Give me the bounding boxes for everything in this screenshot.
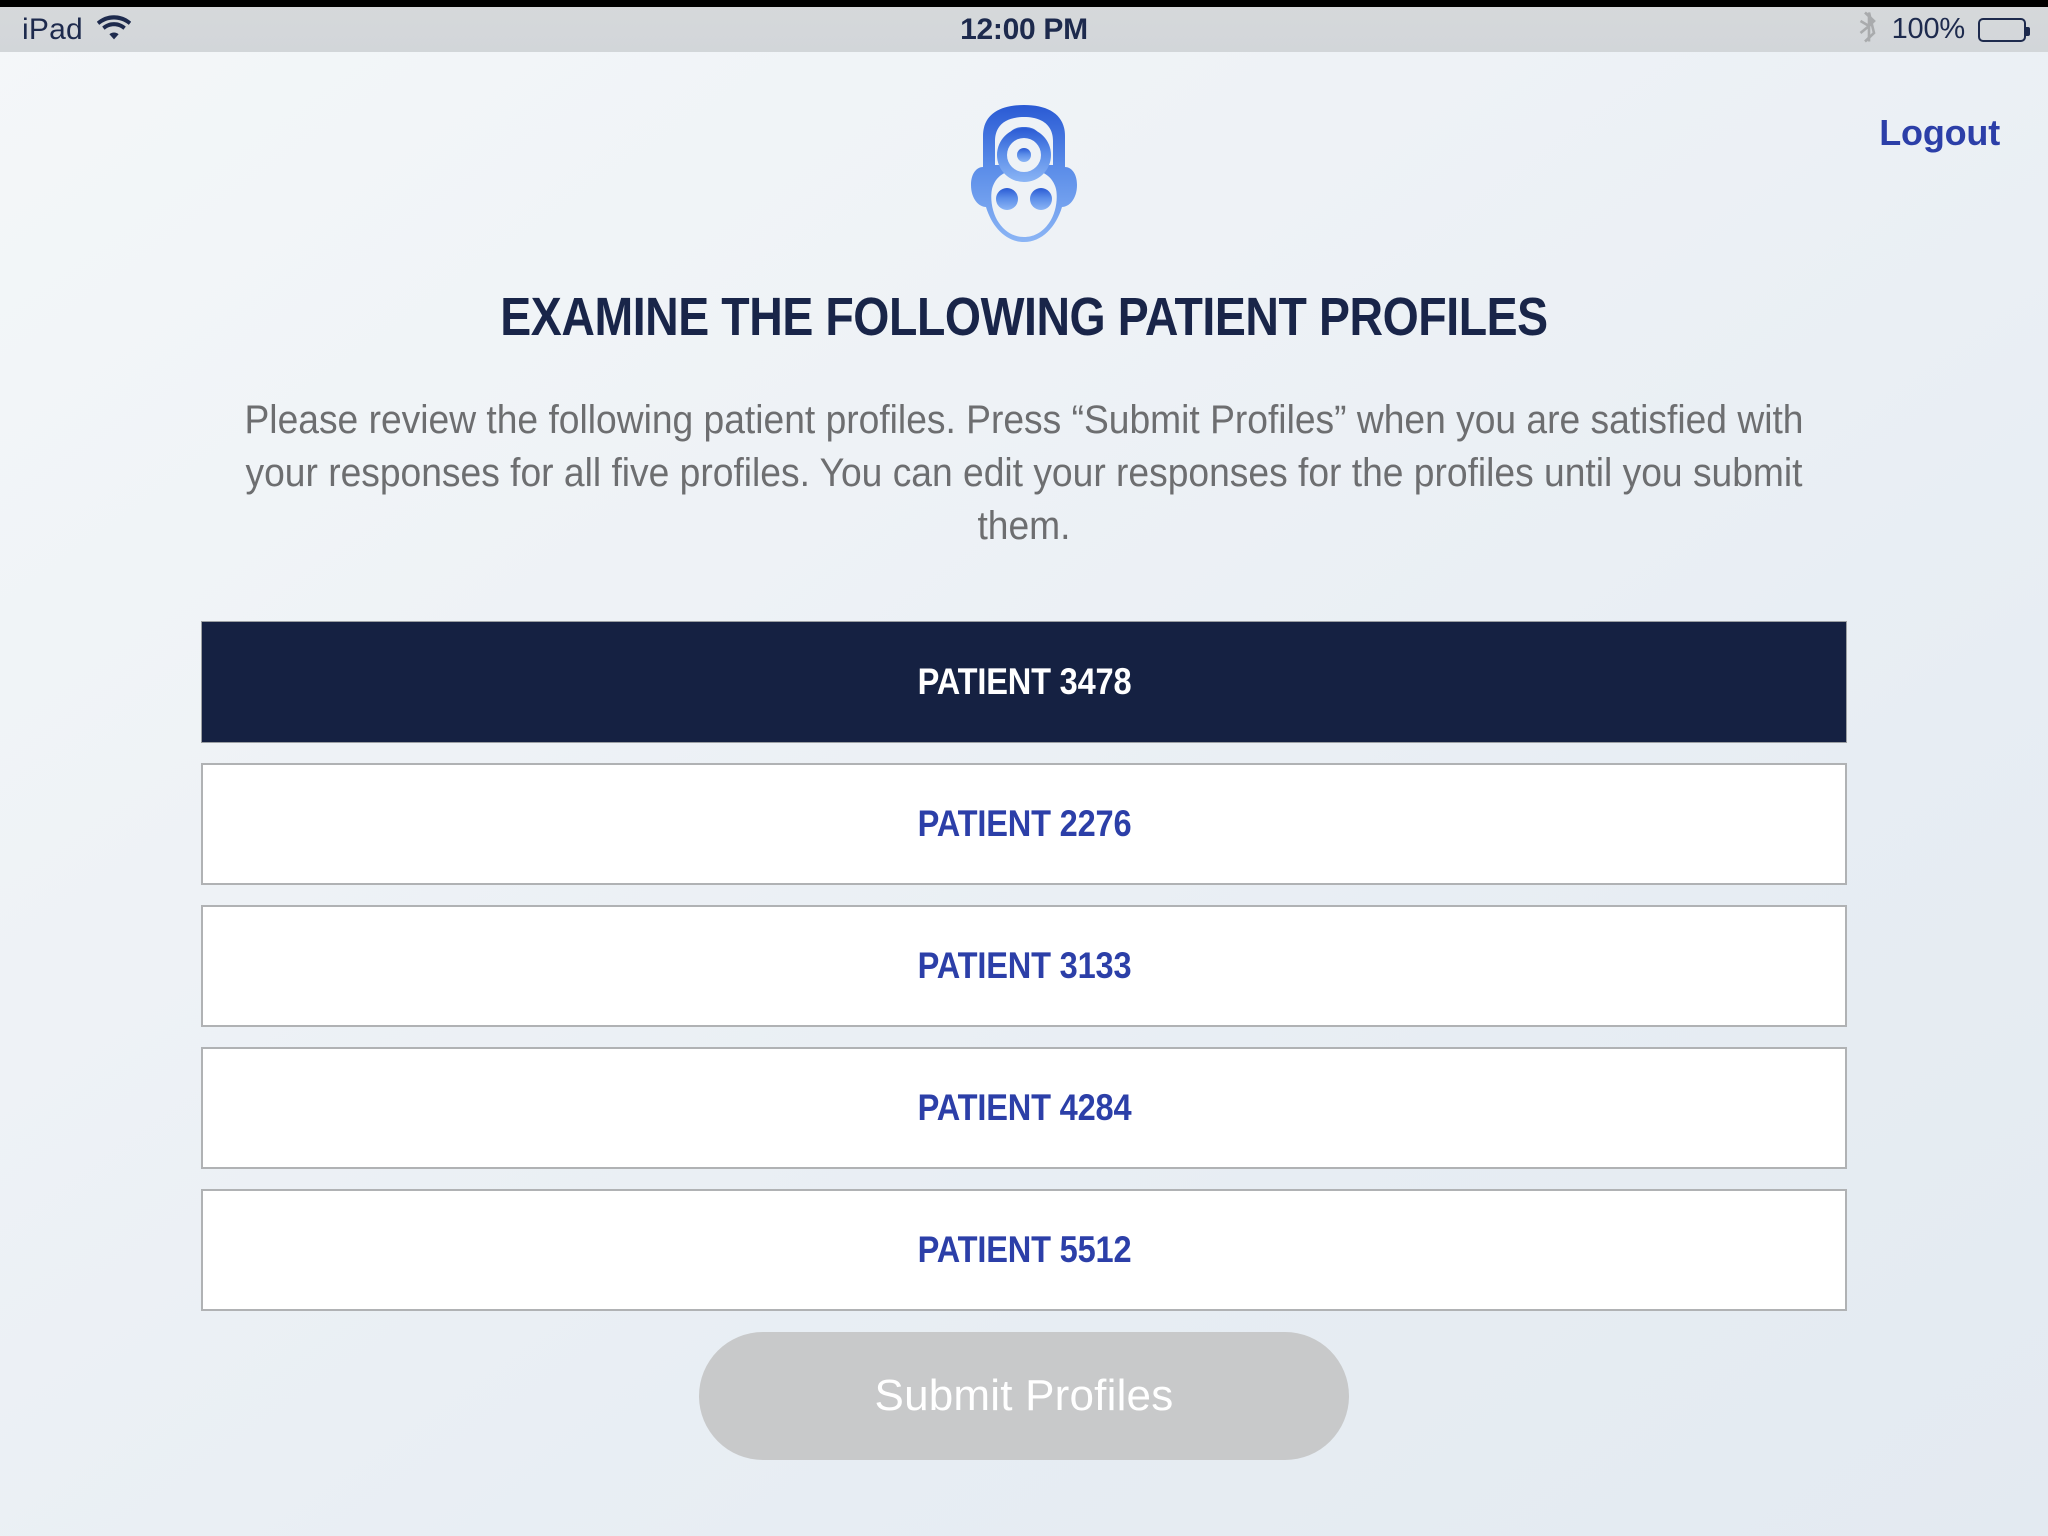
doctor-head-logo-icon [959,103,1089,245]
patient-button[interactable]: PATIENT 3133 [201,905,1847,1027]
patient-button[interactable]: PATIENT 4284 [201,1047,1847,1169]
patient-button-label: PATIENT 3478 [917,661,1131,703]
patient-profile-list: PATIENT 3478PATIENT 2276PATIENT 3133PATI… [201,621,1847,1331]
page-title: EXAMINE THE FOLLOWING PATIENT PROFILES [143,286,1904,348]
logout-button[interactable]: Logout [1879,112,2000,154]
patient-button[interactable]: PATIENT 5512 [201,1189,1847,1311]
battery-percent-label: 100% [1892,13,1965,46]
patient-button-label: PATIENT 3133 [917,945,1131,987]
instructions-text: Please review the following patient prof… [215,394,1833,553]
clock-label: 12:00 PM [960,13,1088,47]
status-bar: iPad 12:00 PM 100% [0,0,2048,52]
status-bar-center: 12:00 PM [0,7,2048,52]
submit-profiles-button[interactable]: Submit Profiles [699,1332,1349,1460]
patient-button[interactable]: PATIENT 3478 [201,621,1847,743]
ipad-screen: iPad 12:00 PM 100% [0,0,2048,1536]
patient-button[interactable]: PATIENT 2276 [201,763,1847,885]
patient-button-label: PATIENT 4284 [917,1087,1131,1129]
status-bar-right: 100% [1859,7,2026,52]
battery-full-icon [1978,18,2026,42]
bluetooth-icon [1859,11,1879,48]
patient-button-label: PATIENT 2276 [917,803,1131,845]
patient-button-label: PATIENT 5512 [917,1229,1131,1271]
